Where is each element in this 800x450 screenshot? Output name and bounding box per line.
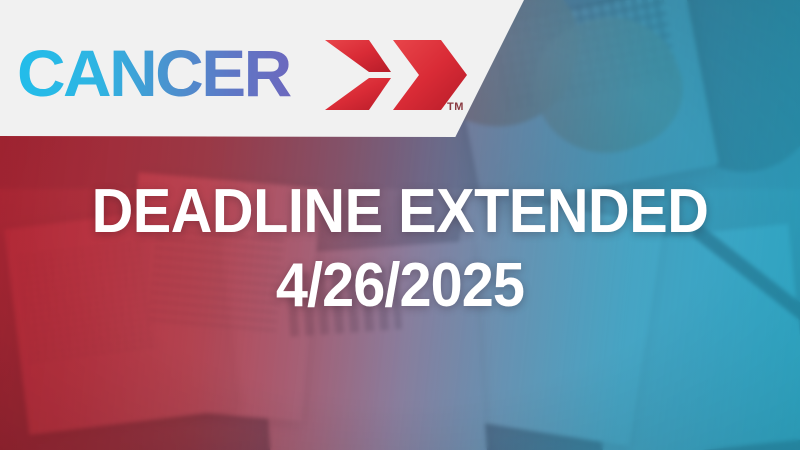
headline-block: DEADLINE EXTENDED 4/26/2025 <box>0 180 800 318</box>
logo-x-mark <box>325 40 467 110</box>
promo-graphic: CANCER TM DEADLINE EXTENDED 4/26/2025 <box>0 0 800 450</box>
trademark-symbol: TM <box>447 101 464 113</box>
cancerx-logo[interactable]: CANCER TM <box>17 34 467 116</box>
deadline-date-text: 4/26/2025 <box>28 254 772 318</box>
logo-wordmark: CANCER <box>17 38 291 111</box>
headline-text: DEADLINE EXTENDED <box>28 180 772 244</box>
